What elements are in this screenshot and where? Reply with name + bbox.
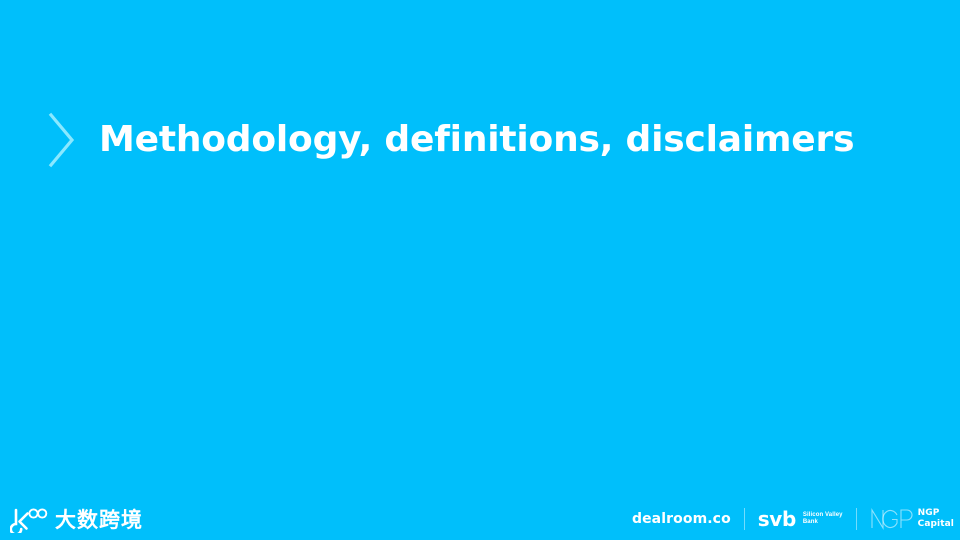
svb-subtext-line-1: Silicon Valley <box>803 512 843 520</box>
partner-logo-ngp: NGP Capital <box>870 506 954 532</box>
partner-logo-dealroom: dealroom.co <box>632 506 731 532</box>
ngp-subtext-line-2: Capital <box>918 519 954 530</box>
ngp-monogram-icon <box>870 508 914 530</box>
partner-divider <box>856 508 857 530</box>
brand-name: 大数跨境 <box>55 510 143 531</box>
ngp-subtext: NGP Capital <box>918 508 954 530</box>
partner-divider <box>744 508 745 530</box>
slide-title-row: Methodology, definitions, disclaimers <box>48 104 854 176</box>
slide-content-area <box>48 200 912 470</box>
slide: Methodology, definitions, disclaimers 大数… <box>0 0 960 540</box>
dealroom-wordmark: dealroom.co <box>632 512 731 526</box>
partner-logo-svb: svb Silicon Valley Bank <box>758 506 843 532</box>
svb-subtext: Silicon Valley Bank <box>803 512 843 527</box>
brand-lockup: 大数跨境 <box>10 506 143 534</box>
ngp-subtext-line-1: NGP <box>918 508 954 519</box>
chevron-right-icon <box>48 112 76 168</box>
k-infinity-logo-icon <box>10 507 50 533</box>
page-title: Methodology, definitions, disclaimers <box>99 122 854 158</box>
partner-logo-strip: dealroom.co svb Silicon Valley Bank <box>632 506 954 532</box>
svb-subtext-line-2: Bank <box>803 519 843 527</box>
slide-footer: 大数跨境 dealroom.co svb Silicon Valley Bank <box>0 484 960 540</box>
svb-wordmark: svb <box>758 509 796 529</box>
